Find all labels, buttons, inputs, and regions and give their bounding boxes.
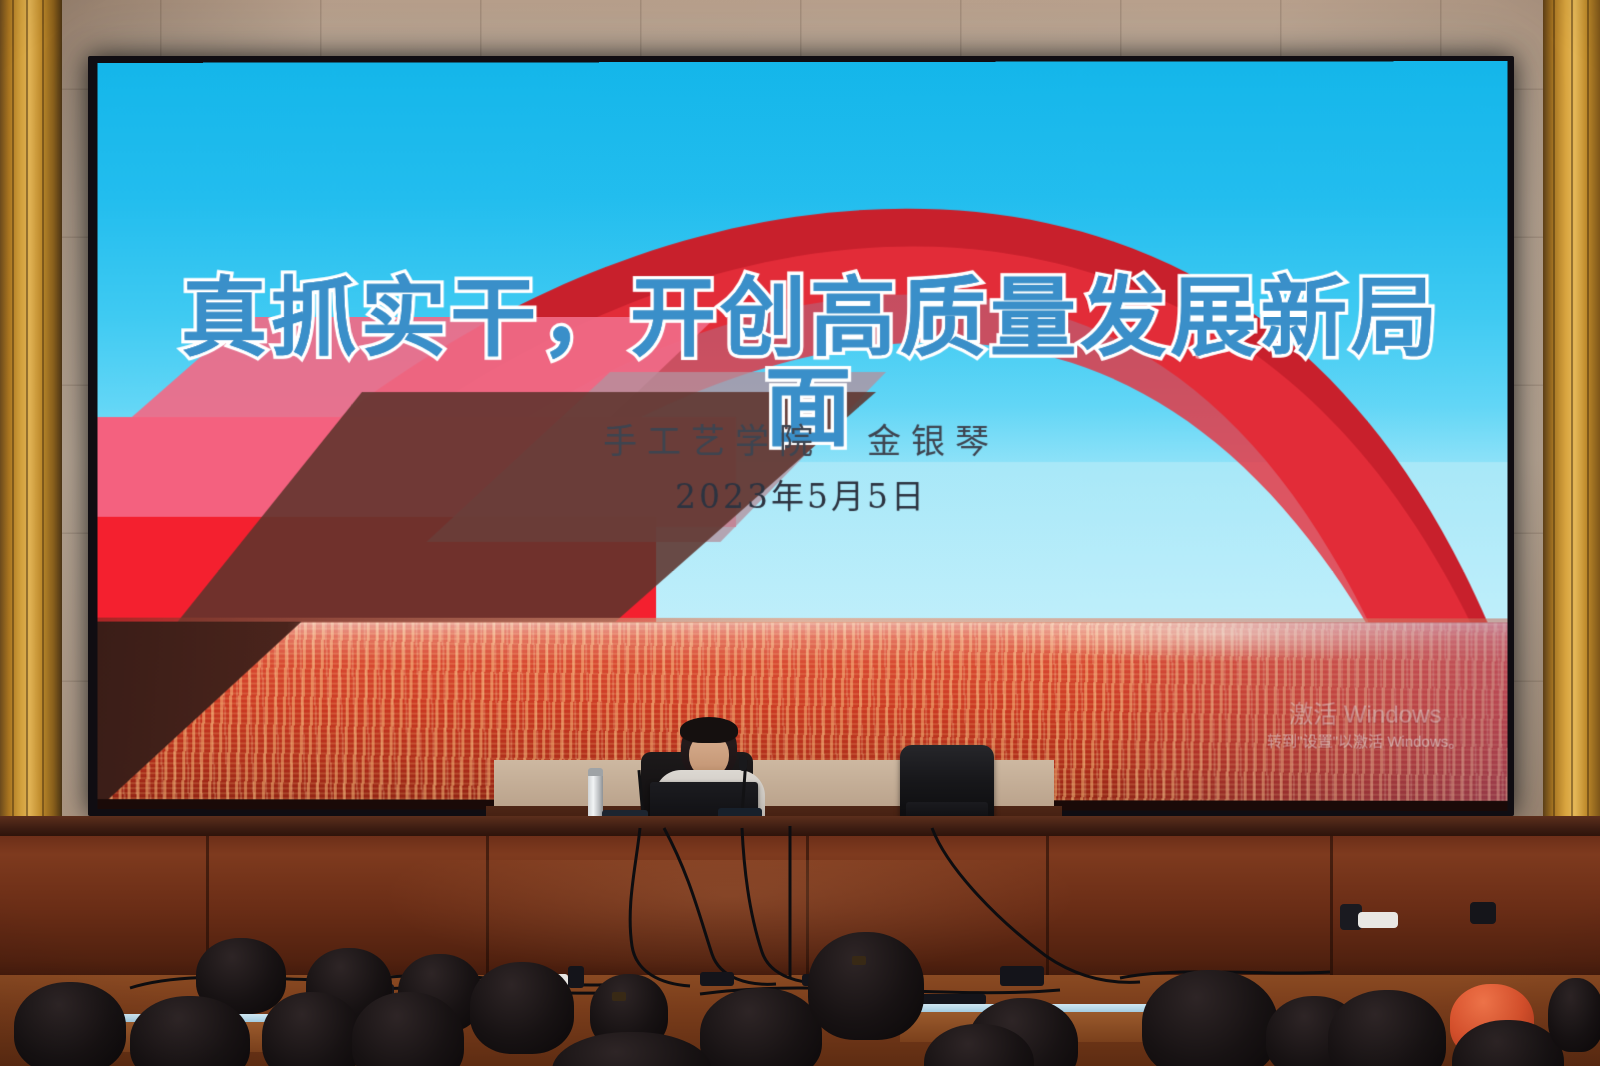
- auditorium-photo: 真抓实干，开创高质量发展新局面 真抓实干，开创高质量发展新局面 手工艺学院 金银…: [0, 0, 1600, 1066]
- audience-head: [808, 932, 924, 1040]
- audience: [0, 940, 1600, 1066]
- audience-head: [552, 1032, 712, 1066]
- curtain-left: [0, 0, 62, 840]
- audience-head: [14, 982, 126, 1066]
- led-screen[interactable]: 真抓实干，开创高质量发展新局面 真抓实干，开创高质量发展新局面 手工艺学院 金银…: [98, 61, 1508, 811]
- windows-activation-watermark: 激活 Windows 转到"设置"以激活 Windows。: [1267, 700, 1463, 753]
- curtain-right: [1543, 0, 1600, 840]
- audience-head: [700, 988, 822, 1066]
- microphone-head-right: [739, 755, 747, 771]
- audience-head: [1142, 970, 1278, 1066]
- thermos-cap: [588, 768, 603, 776]
- hair-clip: [852, 956, 866, 965]
- speaker-hair: [680, 717, 738, 743]
- slide-date-line: 2023年5月5日: [98, 470, 1508, 518]
- audience-head: [262, 992, 362, 1066]
- watermark-line-1: 激活 Windows: [1267, 700, 1463, 733]
- thermos-bottle: [588, 772, 603, 820]
- watermark-line-2: 转到"设置"以激活 Windows。: [1267, 732, 1463, 752]
- audience-head: [1548, 978, 1600, 1052]
- slide-presenter-line: 手工艺学院 金银琴: [98, 414, 1508, 463]
- hair-clip: [612, 992, 626, 1001]
- audience-head: [1328, 990, 1446, 1066]
- audience-head: [470, 962, 574, 1054]
